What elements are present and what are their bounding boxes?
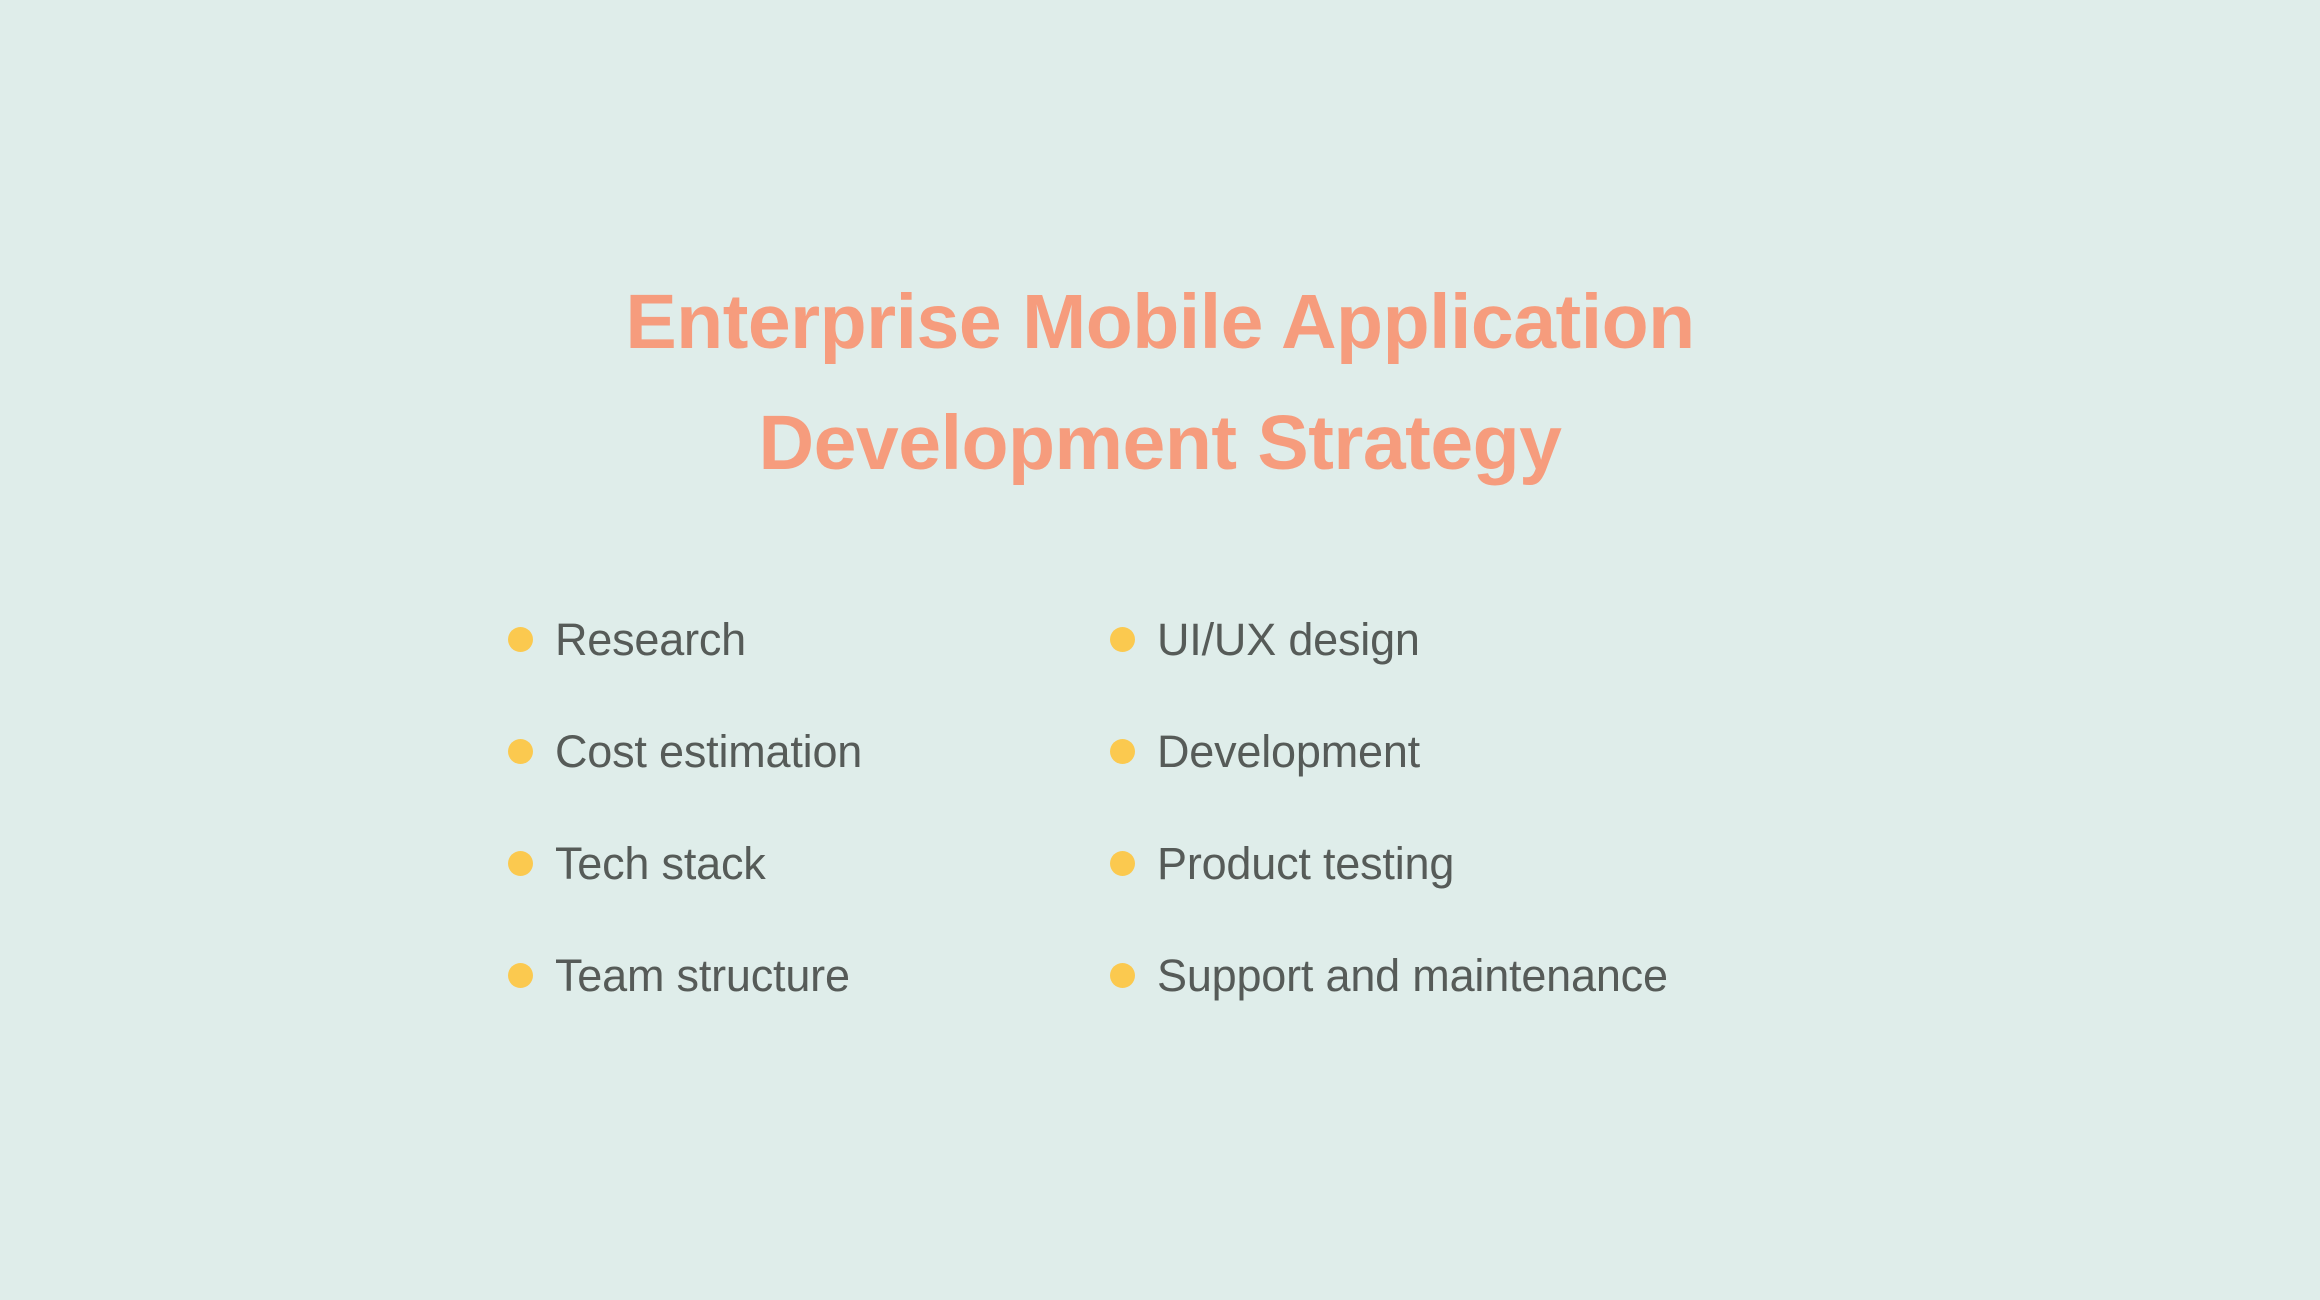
list-item[interactable]: Research bbox=[508, 583, 1110, 695]
list-item[interactable]: UI/UX design bbox=[1110, 583, 1810, 695]
list-item-label: Tech stack bbox=[555, 841, 766, 886]
bullet-dot-icon bbox=[1110, 739, 1135, 764]
bullet-dot-icon bbox=[1110, 851, 1135, 876]
page-title-line-1: Enterprise Mobile Application bbox=[0, 262, 2320, 383]
list-item-label: Research bbox=[555, 617, 746, 662]
list-item-label: UI/UX design bbox=[1157, 617, 1420, 662]
bullet-column-left: Research Cost estimation Tech stack Team… bbox=[508, 583, 1110, 1031]
list-item-label: Cost estimation bbox=[555, 729, 862, 774]
list-item-label: Product testing bbox=[1157, 841, 1454, 886]
bullet-dot-icon bbox=[1110, 627, 1135, 652]
list-item[interactable]: Support and maintenance bbox=[1110, 919, 1810, 1031]
list-item[interactable]: Tech stack bbox=[508, 807, 1110, 919]
list-item[interactable]: Cost estimation bbox=[508, 695, 1110, 807]
bullet-columns: Research Cost estimation Tech stack Team… bbox=[508, 583, 1810, 1031]
list-item-label: Team structure bbox=[555, 953, 850, 998]
list-item[interactable]: Product testing bbox=[1110, 807, 1810, 919]
page-title-line-2: Development Strategy bbox=[0, 383, 2320, 504]
slide-canvas: Enterprise Mobile Application Developmen… bbox=[0, 0, 2320, 1300]
page-title: Enterprise Mobile Application Developmen… bbox=[0, 262, 2320, 504]
bullet-dot-icon bbox=[1110, 963, 1135, 988]
list-item[interactable]: Team structure bbox=[508, 919, 1110, 1031]
list-item-label: Development bbox=[1157, 729, 1420, 774]
list-item[interactable]: Development bbox=[1110, 695, 1810, 807]
bullet-dot-icon bbox=[508, 963, 533, 988]
list-item-label: Support and maintenance bbox=[1157, 953, 1668, 998]
bullet-dot-icon bbox=[508, 851, 533, 876]
bullet-dot-icon bbox=[508, 627, 533, 652]
bullet-dot-icon bbox=[508, 739, 533, 764]
bullet-column-right: UI/UX design Development Product testing… bbox=[1110, 583, 1810, 1031]
